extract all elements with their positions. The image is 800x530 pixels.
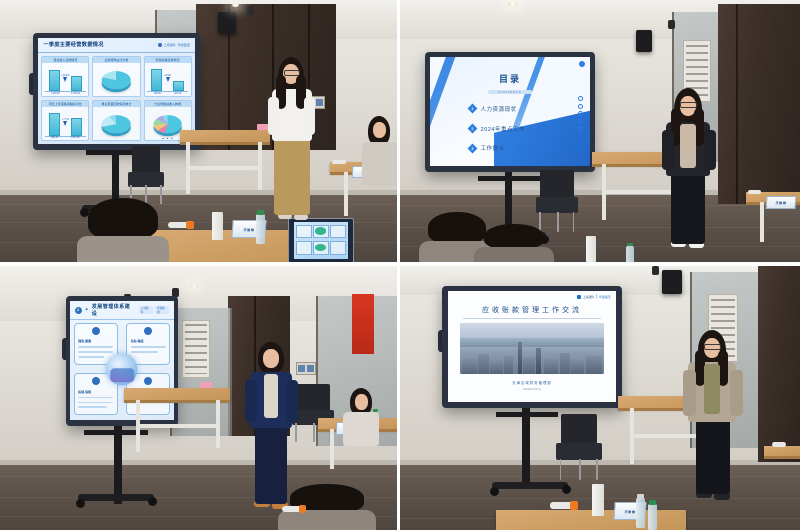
meeting-room-scene: 上海建科 华建集团 应收账款管理工作交流 bbox=[400, 266, 800, 530]
dashboard-card: 重点项目回款情况统计 bbox=[92, 100, 140, 141]
card-value-left: 186.40 bbox=[154, 93, 161, 95]
slide-subtitle: CONTENTS bbox=[488, 90, 533, 95]
microphone bbox=[772, 442, 786, 447]
dashboard-card: 利润总额完成情况 +8.9% 186.40203.10 bbox=[144, 56, 192, 97]
diamond-bullet-icon: 3 bbox=[467, 143, 477, 153]
quadrant-heading: 理念·愿景 bbox=[78, 339, 91, 343]
office-chair[interactable] bbox=[128, 146, 164, 204]
brand-mark-icon: ✦ bbox=[85, 307, 89, 313]
paper-cup bbox=[592, 484, 604, 516]
quadrant-heading: 目标·路径 bbox=[131, 339, 144, 343]
tv-stand-crossbar bbox=[478, 176, 540, 181]
globe-graphic-icon bbox=[106, 353, 137, 384]
presenter-standing bbox=[658, 88, 720, 256]
quadrant-heading: 机制·保障 bbox=[78, 390, 91, 394]
speaker-box bbox=[218, 12, 236, 34]
quadrant-icon bbox=[144, 327, 152, 335]
toc-item-label: 2024年重点工作 bbox=[481, 125, 525, 133]
folding-table bbox=[180, 130, 270, 142]
wood-door bbox=[758, 266, 800, 462]
microphone bbox=[168, 222, 190, 228]
quadrant-icon bbox=[92, 327, 100, 335]
water-bottle bbox=[648, 504, 657, 530]
brand-right: 华建集团 bbox=[599, 295, 610, 299]
meeting-room-scene: 一季度主要经营数据情况 上海建科 华建集团 营业收入完成情况 bbox=[0, 0, 397, 262]
interactive-display[interactable]: 一季度主要经营数据情况 上海建科 华建集团 营业收入完成情况 bbox=[33, 33, 200, 150]
slide-logo-icon bbox=[579, 61, 585, 67]
wall-scroll bbox=[182, 320, 210, 378]
seated-attendee bbox=[340, 388, 384, 448]
slide-cover: 上海建科 华建集团 应收账款管理工作交流 bbox=[448, 291, 617, 402]
panel-bottom-right[interactable]: 上海建科 华建集团 应收账款管理工作交流 bbox=[400, 266, 800, 530]
presenter-standing bbox=[262, 57, 322, 227]
tv-stand-column bbox=[522, 408, 530, 488]
microphone bbox=[282, 506, 302, 512]
city-skyline-photo bbox=[460, 323, 605, 374]
slide-title: 一季度主要经营数据情况 bbox=[43, 41, 103, 48]
brand-left: 上海建科 bbox=[164, 43, 176, 47]
page-dots bbox=[578, 96, 583, 131]
dashboard-card: 同比上年度各项指标对比 +7.7% 982.301,057.80 bbox=[41, 100, 89, 141]
meeting-room-scene: 2 ✦ 发展管理体系建设 上海建科 华建集团 理念·愿景 bbox=[0, 266, 397, 530]
microphone bbox=[550, 502, 574, 509]
pink-box bbox=[200, 382, 212, 388]
front-table bbox=[496, 510, 686, 530]
slide-title: 应收账款管理工作交流 bbox=[448, 303, 617, 318]
water-bottle bbox=[626, 246, 634, 262]
slide-logo: 上海建科 华建集团 bbox=[158, 43, 190, 47]
tv-stand-crossbar bbox=[496, 412, 558, 417]
microphone bbox=[332, 160, 346, 164]
speaker-box bbox=[662, 270, 682, 294]
card-value-right: 1,378.20 bbox=[71, 93, 80, 95]
diamond-bullet-icon: 2 bbox=[467, 124, 477, 134]
paper-cup bbox=[586, 236, 596, 262]
presenter-standing bbox=[680, 330, 746, 512]
folding-table bbox=[124, 388, 230, 400]
dashboard-card: 业务结构占比分析 bbox=[92, 56, 140, 97]
audience-foreground bbox=[484, 224, 544, 262]
panel-bottom-left[interactable]: 2 ✦ 发展管理体系建设 上海建科 华建集团 理念·愿景 bbox=[0, 266, 397, 530]
logo-mark-icon bbox=[577, 295, 581, 299]
nameplate: 王丽丽 bbox=[766, 196, 797, 209]
interactive-display[interactable]: 上海建科 华建集团 应收账款管理工作交流 bbox=[442, 286, 622, 408]
slide-title: 发展管理体系建设 bbox=[92, 303, 136, 317]
card-value-left: 982.30 bbox=[51, 137, 58, 139]
slide-dashboard: 一季度主要经营数据情况 上海建科 华建集团 营业收入完成情况 bbox=[38, 38, 194, 144]
paper-cup bbox=[212, 212, 223, 240]
nameplate-text: 王丽丽 bbox=[624, 509, 635, 514]
card-value-left: 1,245.60 bbox=[51, 93, 60, 95]
red-banner bbox=[352, 294, 374, 354]
brand-right: 华建集团 bbox=[155, 306, 169, 314]
slide-table-of-contents: 目录 CONTENTS 1 人力资源现状 2 2024年重点工作 bbox=[430, 57, 589, 166]
ceiling-spotlight-icon bbox=[668, 20, 675, 29]
ceiling-downlight-icon bbox=[508, 2, 518, 7]
ceiling-downlight-icon bbox=[232, 3, 239, 7]
ceiling-spotlight-icon bbox=[246, 6, 253, 15]
toc-item-label: 人力资源现状 bbox=[481, 105, 517, 113]
diamond-bullet-icon: 1 bbox=[467, 104, 477, 114]
section-number: 2 bbox=[75, 307, 82, 314]
tv-stand-base bbox=[492, 482, 568, 489]
side-table bbox=[764, 446, 800, 456]
brand-left: 上海建科 bbox=[583, 295, 594, 299]
photo-collage: 一季度主要经营数据情况 上海建科 华建集团 营业收入完成情况 bbox=[0, 0, 800, 530]
slide-logo: 上海建科 华建集团 bbox=[448, 291, 617, 303]
slide-title: 目录 bbox=[430, 72, 589, 85]
panel-top-right[interactable]: 目录 CONTENTS 1 人力资源现状 2 2024年重点工作 bbox=[400, 0, 800, 262]
meeting-room-scene: 目录 CONTENTS 1 人力资源现状 2 2024年重点工作 bbox=[400, 0, 800, 262]
folding-chair[interactable] bbox=[556, 414, 602, 480]
quadrant-icon bbox=[144, 377, 152, 385]
brand-left: 上海建科 bbox=[139, 306, 153, 314]
speaker-box bbox=[636, 30, 652, 52]
display-screen: 一季度主要经营数据情况 上海建科 华建集团 营业收入完成情况 bbox=[38, 38, 194, 144]
tv-stand-column bbox=[114, 426, 122, 504]
toc-item: 3 工作提示 bbox=[469, 144, 505, 152]
ceiling-spotlight-icon bbox=[652, 266, 659, 275]
pie-chart bbox=[102, 115, 131, 133]
logo-dot-icon bbox=[158, 43, 162, 47]
card-value-right: 1,057.80 bbox=[71, 137, 80, 139]
pie-chart bbox=[153, 115, 182, 133]
hand-sanitizer bbox=[636, 498, 645, 528]
pie-chart bbox=[102, 71, 131, 89]
audience-foreground bbox=[88, 198, 158, 262]
interactive-display[interactable]: 2 ✦ 发展管理体系建设 上海建科 华建集团 理念·愿景 bbox=[66, 296, 178, 426]
nameplate-text: 王丽丽 bbox=[775, 200, 786, 205]
display-screen: 目录 CONTENTS 1 人力资源现状 2 2024年重点工作 bbox=[430, 57, 589, 166]
date-line: 2024年04月17日 bbox=[448, 387, 617, 391]
toc-item: 1 人力资源现状 bbox=[469, 105, 517, 113]
nameplate-text: 王丽丽 bbox=[243, 227, 254, 232]
panel-top-left[interactable]: 一季度主要经营数据情况 上海建科 华建集团 营业收入完成情况 bbox=[0, 0, 397, 262]
toc-item: 2 2024年重点工作 bbox=[469, 125, 525, 133]
brand-right: 华建集团 bbox=[178, 43, 190, 47]
wood-door bbox=[718, 4, 800, 204]
dashboard-card: 营业收入完成情况 +10.6% 1,245.601,378.20 bbox=[41, 56, 89, 97]
presenter-line: 天津区域财务管理部 bbox=[448, 380, 617, 385]
toc-item-label: 工作提示 bbox=[481, 144, 505, 152]
folding-chair[interactable] bbox=[536, 170, 578, 232]
card-value-right: 203.10 bbox=[174, 93, 181, 95]
seated-attendee bbox=[360, 116, 397, 206]
ceiling-downlight-icon bbox=[190, 284, 198, 288]
tv-stand-base bbox=[78, 494, 154, 501]
microphone bbox=[748, 190, 761, 194]
quadrant-icon bbox=[92, 377, 100, 385]
display-screen: 上海建科 华建集团 应收账款管理工作交流 bbox=[448, 291, 617, 402]
interactive-display[interactable]: 目录 CONTENTS 1 人力资源现状 2 2024年重点工作 bbox=[425, 52, 595, 172]
